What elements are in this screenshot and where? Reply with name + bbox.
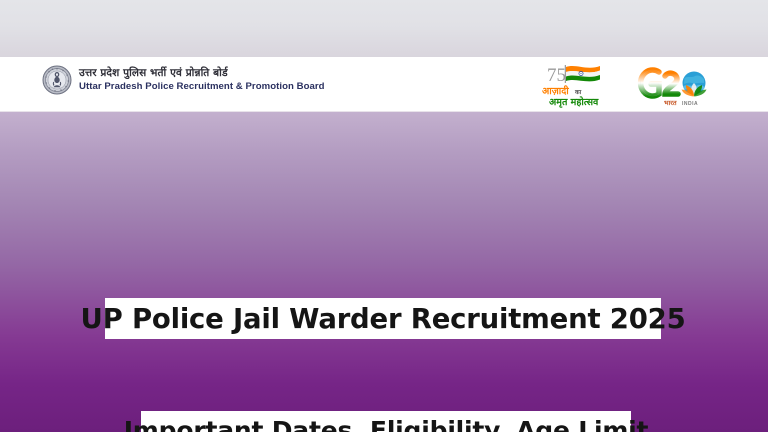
page-title: UP Police Jail Warder Recruitment 2025 [80,303,685,335]
top-strip [0,0,768,57]
subtitle-plate: Important Dates, Eligibility, Age Limit [141,411,631,432]
banner-image: उत्तर प्रदेश पुलिस भर्ती एवं प्रोन्नति ब… [0,0,768,432]
header-band: उत्तर प्रदेश पुलिस भर्ती एवं प्रोन्नति ब… [0,57,768,112]
brand-name-english: Uttar Pradesh Police Recruitment & Promo… [79,82,325,92]
svg-text:का: का [574,89,582,96]
page-subtitle: Important Dates, Eligibility, Age Limit [124,416,649,432]
azadi-amrit-mahotsav-logo-icon: 75 आज़ादी का अमृत महोत्सव [538,61,618,109]
g20-india-logo-icon: भारत INDIA [634,61,720,111]
header-logo-group: 75 आज़ादी का अमृत महोत्सव [538,61,720,111]
svg-text:INDIA: INDIA [682,101,698,107]
brand-lockup: उत्तर प्रदेश पुलिस भर्ती एवं प्रोन्नति ब… [42,65,325,95]
svg-text:भारत: भारत [664,99,677,107]
svg-text:अमृत महोत्सव: अमृत महोत्सव [549,96,599,108]
brand-name-hindi: उत्तर प्रदेश पुलिस भर्ती एवं प्रोन्नति ब… [79,68,325,79]
up-police-emblem-icon [42,65,72,95]
svg-text:आज़ादी: आज़ादी [542,85,569,97]
brand-text: उत्तर प्रदेश पुलिस भर्ती एवं प्रोन्नति ब… [79,68,325,91]
title-plate: UP Police Jail Warder Recruitment 2025 [105,298,661,339]
hero-gradient-background: UP Police Jail Warder Recruitment 2025 I… [0,112,768,432]
svg-text:75: 75 [547,65,566,86]
